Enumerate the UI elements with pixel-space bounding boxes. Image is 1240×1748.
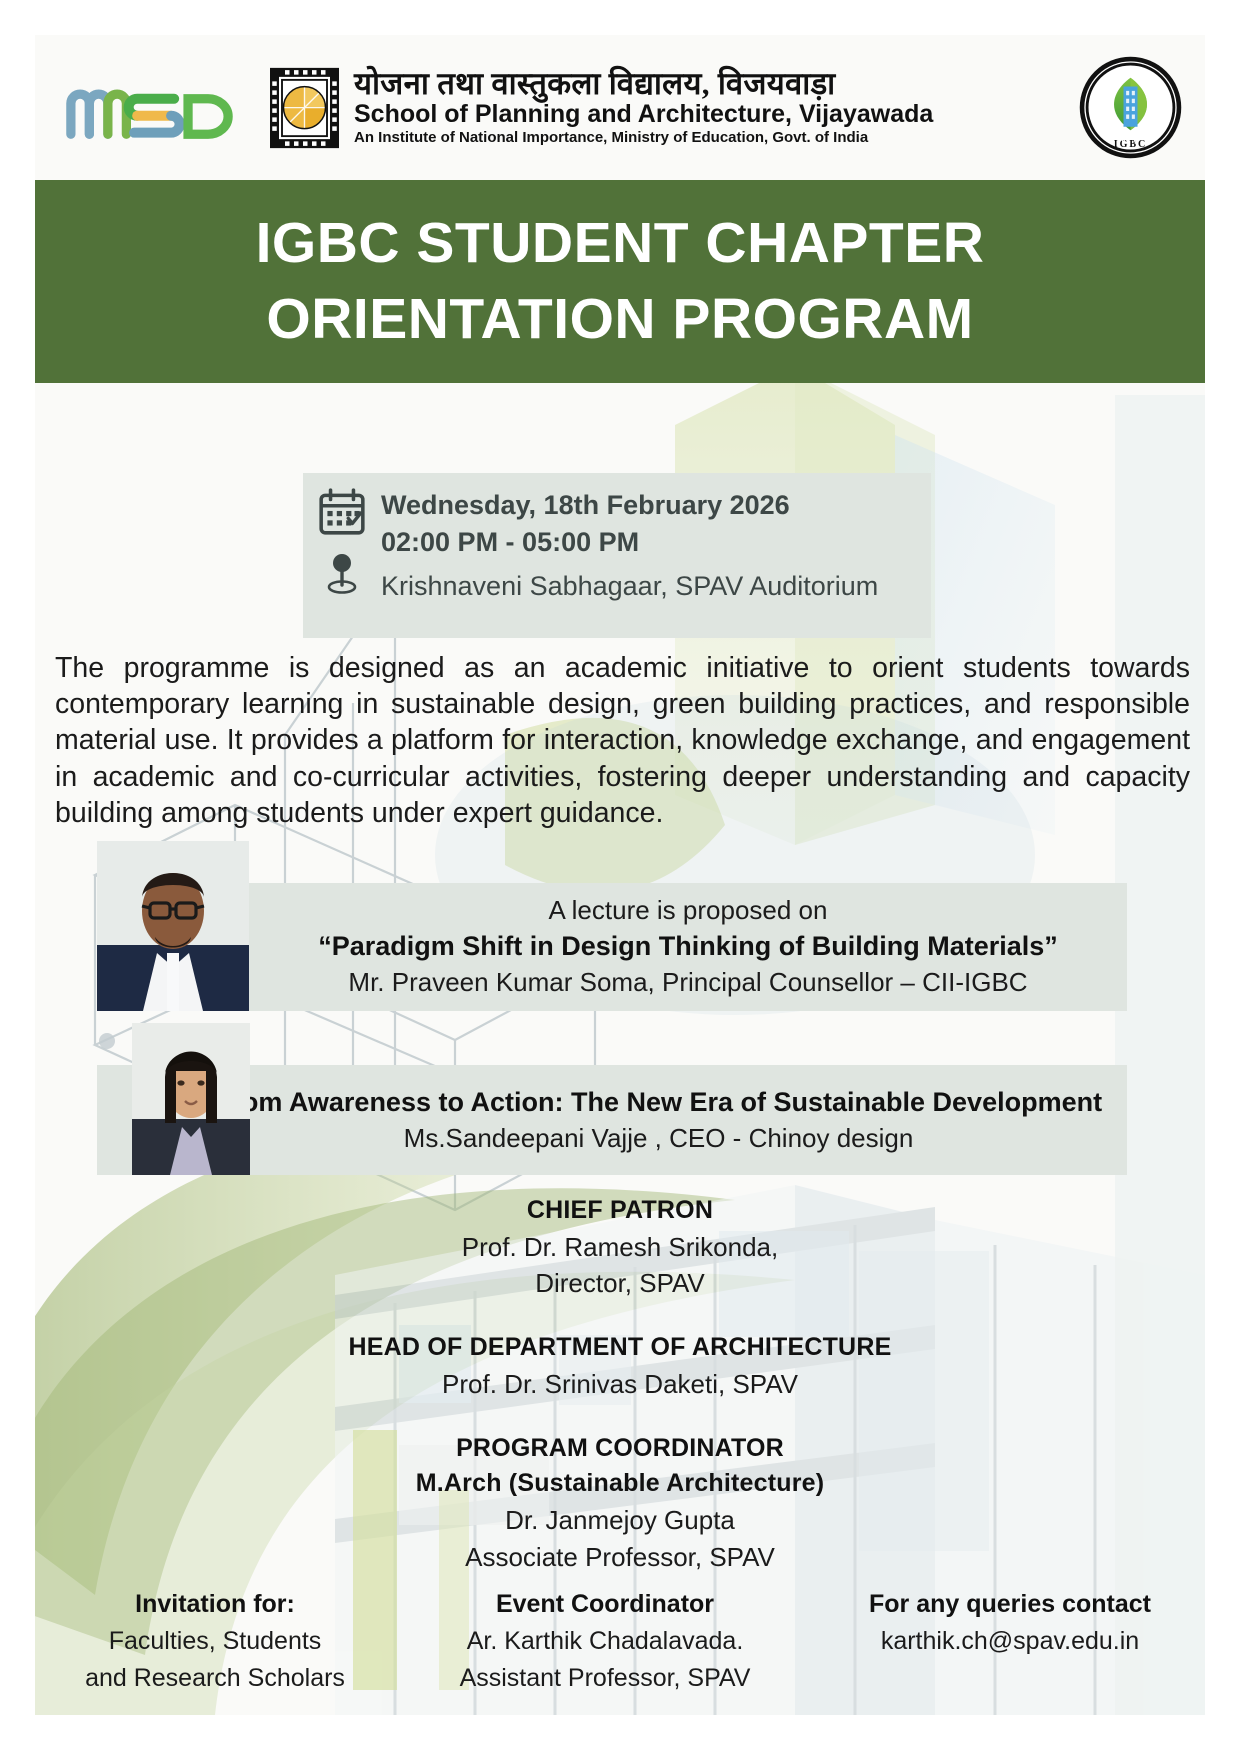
event-date: Wednesday, 18th February 2026: [381, 487, 878, 524]
speaker-1-portrait: [97, 841, 249, 1011]
event-details-box: Wednesday, 18th February 2026 02:00 PM -…: [303, 473, 931, 638]
speaker-1-lead: A lecture is proposed on: [549, 894, 828, 928]
speaker-panel-1: A lecture is proposed on “Paradigm Shift…: [97, 883, 1127, 1011]
credit-name-hod-1: Prof. Dr. Srinivas Daketi, SPAV: [35, 1366, 1205, 1403]
event-time: 02:00 PM - 05:00 PM: [381, 524, 878, 561]
footer-coordinator-line2: Assistant Professor, SPAV: [395, 1660, 815, 1697]
spav-logo-block: योजना तथा वास्तुकला विद्यालय, विजयवाड़ा …: [267, 64, 933, 152]
credits-spacer-1: [35, 1302, 1205, 1330]
credit-name-program-coordinator-2: Associate Professor, SPAV: [35, 1539, 1205, 1576]
footer-invitation: Invitation for: Faculties, Students and …: [35, 1586, 395, 1697]
event-detail-icons: [303, 473, 381, 595]
spav-institute-text: योजना तथा वास्तुकला विद्यालय, विजयवाड़ा …: [354, 68, 933, 147]
credits-spacer-2: [35, 1403, 1205, 1431]
footer-invitation-line1: Faculties, Students: [35, 1623, 395, 1660]
credits-section: CHIEF PATRON Prof. Dr. Ramesh Srikonda, …: [35, 1193, 1205, 1576]
speaker-photo-2: [132, 1023, 250, 1175]
page-title-line2: ORIENTATION PROGRAM: [266, 282, 973, 357]
speaker-panel-2: From Awareness to Action: The New Era of…: [97, 1065, 1127, 1175]
speaker-1-name: Mr. Praveen Kumar Soma, Principal Counse…: [348, 965, 1027, 1000]
institute-name-english: School of Planning and Architecture, Vij…: [354, 100, 933, 129]
spav-emblem: [267, 64, 342, 152]
program-description: The programme is designed as an academic…: [55, 650, 1190, 831]
speaker-2-portrait: [132, 1023, 250, 1175]
poster: योजना तथा वास्तुकला विद्यालय, विजयवाड़ा …: [35, 35, 1205, 1715]
igbc-member-badge-icon: IGBC INDIAN GREEN BUILDING COUNCIL · M E…: [1078, 55, 1183, 160]
footer-contact-head: For any queries contact: [815, 1586, 1205, 1623]
credit-name-chief-patron-1: Prof. Dr. Ramesh Srikonda,: [35, 1229, 1205, 1266]
credit-name-program-coordinator-1: Dr. Janmejoy Gupta: [35, 1502, 1205, 1539]
logo-strip: योजना तथा वास्तुकला विद्यालय, विजयवाड़ा …: [35, 35, 1205, 180]
speaker-2-text: From Awareness to Action: The New Era of…: [190, 1065, 1127, 1175]
credit-role-hod: HEAD OF DEPARTMENT OF ARCHITECTURE: [35, 1330, 1205, 1366]
footer-event-coordinator: Event Coordinator Ar. Karthik Chadalavad…: [395, 1586, 815, 1697]
speaker-2-name: Ms.Sandeepani Vajje , CEO - Chinoy desig…: [404, 1121, 914, 1156]
institute-subtitle: An Institute of National Importance, Min…: [354, 129, 933, 147]
event-venue: Krishnaveni Sabhagaar, SPAV Auditorium: [381, 568, 878, 605]
institute-name-hindi: योजना तथा वास्तुकला विद्यालय, विजयवाड़ा: [354, 68, 933, 101]
calendar-icon: [317, 487, 367, 537]
msd-logo: [57, 68, 242, 148]
location-pin-icon: [324, 551, 360, 595]
speaker-photo-1: [97, 841, 249, 1011]
footer-contact-email[interactable]: karthik.ch@spav.edu.in: [815, 1623, 1205, 1660]
footer-section: Invitation for: Faculties, Students and …: [35, 1586, 1205, 1697]
speaker-1-topic: “Paradigm Shift in Design Thinking of Bu…: [318, 928, 1058, 964]
title-banner: IGBC STUDENT CHAPTER ORIENTATION PROGRAM: [35, 180, 1205, 383]
footer-contact: For any queries contact karthik.ch@spav.…: [815, 1586, 1205, 1660]
credit-role-chief-patron: CHIEF PATRON: [35, 1193, 1205, 1229]
footer-invitation-head: Invitation for:: [35, 1586, 395, 1623]
footer-invitation-line2: and Research Scholars: [35, 1660, 395, 1697]
footer-coordinator-line1: Ar. Karthik Chadalavada.: [395, 1623, 815, 1660]
speaker-2-topic: From Awareness to Action: The New Era of…: [215, 1084, 1102, 1120]
credit-role-program-coordinator: PROGRAM COORDINATOR: [35, 1431, 1205, 1467]
credit-role-program-coordinator-sub: M.Arch (Sustainable Architecture): [35, 1466, 1205, 1502]
event-detail-text: Wednesday, 18th February 2026 02:00 PM -…: [381, 473, 878, 605]
credit-name-chief-patron-2: Director, SPAV: [35, 1265, 1205, 1302]
footer-coordinator-head: Event Coordinator: [395, 1586, 815, 1623]
speaker-1-text: A lecture is proposed on “Paradigm Shift…: [249, 883, 1127, 1011]
page-title-line1: IGBC STUDENT CHAPTER: [256, 206, 985, 281]
